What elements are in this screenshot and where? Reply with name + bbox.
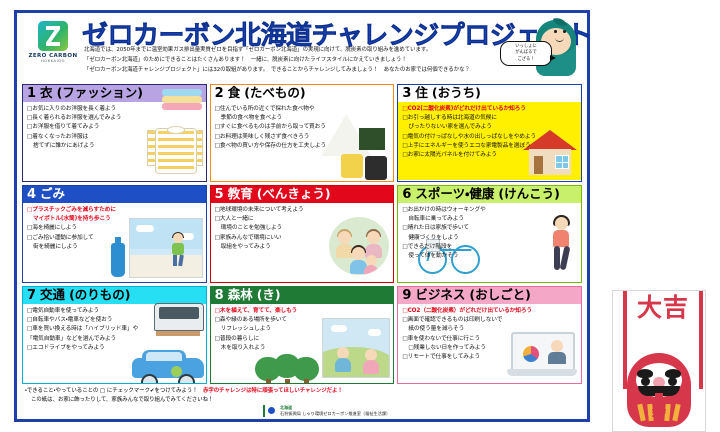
card-header: 1 衣 (ファッション) xyxy=(23,85,206,102)
checklist-item[interactable]: □着なくなったお洋服は xyxy=(27,133,203,142)
poster-footer: ・できること・やっていることの □ にチェックマーク✔をつけてみよう！ 赤字のチ… xyxy=(22,387,582,405)
checklist-item[interactable]: □プラスチックごみを減らすために xyxy=(27,206,203,215)
card-body: □CO2（二酸化炭素）がどれだけ出ているか知ろう □画面で確認できるものは印刷し… xyxy=(398,304,581,382)
card-title: 森林 xyxy=(228,289,253,302)
screenshot-root: ZERO CARBON HOKKAIDO ゼロカーボン北海道チャレンジプロジェク… xyxy=(0,0,720,432)
checklist-item[interactable]: □すぐに食べるものは手前から取って買おう xyxy=(215,123,391,132)
card-subtitle: (ファッション) xyxy=(57,87,143,100)
card-header: 8 森林 (き) xyxy=(211,287,394,304)
checklist-item[interactable]: □お家に太陽光パネルを付けてみよう xyxy=(402,151,578,160)
card-body: □地球環境の未来について考えよう □大人と一緒に 環境のことを勉強しよう □家族… xyxy=(211,203,394,281)
card-transport[interactable]: 7 交通 (のりもの) □電気自動車を使ってみよう □自転車やバス・電車などを使… xyxy=(22,286,207,384)
daruma-eye-right xyxy=(668,377,677,386)
checklist-item[interactable]: □住んでいる所の近くで採れた食べ物や xyxy=(215,105,391,114)
omikuji-label: 大吉 xyxy=(627,295,699,321)
checklist-item[interactable]: □晴れた日は家族で歩いて xyxy=(402,224,578,233)
checklist-item[interactable]: マイボトル(水筒)を持ち歩こう xyxy=(27,215,203,224)
checklist-item[interactable]: 健康づくりをしよう xyxy=(402,234,578,243)
checklist-item[interactable]: □画面で確認できるものは印刷しないで xyxy=(402,316,578,325)
checklist-item[interactable]: □車を買い換える時は「ハイブリッド車」や xyxy=(27,325,203,334)
checklist-item[interactable]: □CO2(二酸化炭素)がどれだけ出ているか知ろう xyxy=(402,105,578,114)
checklist-item[interactable]: □木を植えて、育てて、楽しもう xyxy=(215,307,391,316)
checklist-item[interactable]: 木を取り入れよう xyxy=(215,344,391,353)
card-subtitle: (べんきょう) xyxy=(257,188,331,201)
checklist-item[interactable]: □お出かけの時はウォーキングや xyxy=(402,206,578,215)
card-subtitle: (のりもの) xyxy=(69,289,130,302)
daruma-mouth xyxy=(655,393,663,400)
card-number: 5 xyxy=(215,188,224,201)
checklist-item[interactable]: □リモートで仕事をしてみよう xyxy=(402,353,578,362)
mascot-character: いっしょに がんばるで ござる！ xyxy=(502,19,578,81)
card-subtitle: (き) xyxy=(257,289,281,302)
checklist-item[interactable]: □エコドライブをやってみよう xyxy=(27,344,203,353)
checklist-item[interactable]: リフレッシュしよう xyxy=(215,325,391,334)
card-number: 9 xyxy=(402,289,411,302)
zero-carbon-logo: ZERO CARBON HOKKAIDO xyxy=(24,21,82,63)
card-title: 交通 xyxy=(40,289,65,302)
electric-car-icon xyxy=(132,350,204,384)
card-body: □住んでいる所の近くで採れた食べ物や 季節の食べ物を食べよう □すぐに食べるもの… xyxy=(211,102,394,180)
card-body: □お出かけの時はウォーキングや 自転車に乗ってみよう □晴れた日は家族で歩いて … xyxy=(398,203,581,281)
card-education[interactable]: 5 教育 (べんきょう) xyxy=(210,185,395,283)
checklist-item[interactable]: □家族みんなで環境にいい xyxy=(215,234,391,243)
checklist-item[interactable]: □電気の付けっぱなしや水の出しっぱなしをやめよう xyxy=(402,133,578,142)
card-body: □お気に入りのお洋服を長く着よう □長く着られるお洋服を選んでみよう □お洋服を… xyxy=(23,102,206,180)
checklist-item[interactable]: □地球環境の未来について考えよう xyxy=(215,206,391,215)
card-body: □木を植えて、育てて、楽しもう □森や緑のある場所を歩いて リフレッシュしよう … xyxy=(211,304,394,382)
checklist-item[interactable]: □上手にエネルギーを使うエコな家電製品を選ぼう xyxy=(402,142,578,151)
checklist-item[interactable]: □普段の暮らしに xyxy=(215,335,391,344)
checklist-item[interactable]: □自転車やバス・電車などを使おう xyxy=(27,316,203,325)
card-header: 3 住 (おうち) xyxy=(398,85,581,102)
daruma-eye-left xyxy=(641,377,650,386)
card-header: 7 交通 (のりもの) xyxy=(23,287,206,304)
checklist-item[interactable]: □大人と一緒に xyxy=(215,215,391,224)
checklist-item[interactable]: 環境のことを勉強しよう xyxy=(215,224,391,233)
card-body: □電気自動車を使ってみよう □自転車やバス・電車などを使おう □車を買い換える時… xyxy=(23,304,206,382)
eco-bag-yellow-icon xyxy=(341,154,363,178)
footer-note-black: ・できること・やっていることの □ にチェックマーク✔をつけてみよう！ xyxy=(25,388,203,394)
daruma-kanji-label: 寿 xyxy=(627,400,691,421)
checklist-item[interactable]: □食べ物の買い方や保存の仕方を工夫しよう xyxy=(215,142,391,151)
hokkaido-seal-icon xyxy=(263,405,277,417)
card-business[interactable]: 9 ビジネス (おしごと) □CO2（二酸化炭素）がどれだけ出ているか知ろう □… xyxy=(397,286,582,384)
card-subtitle: (けんこう) xyxy=(498,188,559,201)
footer-note-line-2: この紙は、お家に飾ったりして、家族みんなで取り組んでみてくださいね！ xyxy=(25,396,582,405)
challenge-card-grid: 1 衣 (ファッション) □お気に入りのお洋服を長く着よう □長く着られるお洋服… xyxy=(22,84,582,384)
card-sports-health[interactable]: 6 スポーツ・健康 (けんこう) □お出かけの時はウォーキングや xyxy=(397,185,582,283)
card-number: 3 xyxy=(402,87,411,100)
card-header: 4 ごみ xyxy=(23,186,206,203)
card-garbage[interactable]: 4 ごみ □プラスチックごみを減らすために xyxy=(22,185,207,283)
intro-paragraph: 北海道では、2050年までに温室効果ガス排出量実質ゼロを目指す「ゼロカーボン北海… xyxy=(84,45,486,75)
daruma-fortune-panel: 大吉 寿 xyxy=(612,290,706,432)
card-title: 食 xyxy=(228,87,241,100)
card-food[interactable]: 2 食 (たべもの) □住んでいる所の近くで採れた食べ物や 季節の食べ物を食べよ… xyxy=(210,84,395,182)
organization-credit: 北海道 石狩振興局 しゃり環境ゼロカーボン推進室（福祉生活課） xyxy=(263,405,390,417)
checklist-item[interactable]: 自転車に乗ってみよう xyxy=(402,215,578,224)
card-fashion[interactable]: 1 衣 (ファッション) □お気に入りのお洋服を長く着よう □長く着られるお洋服… xyxy=(22,84,207,182)
poster-sheet: ZERO CARBON HOKKAIDO ゼロカーボン北海道チャレンジプロジェク… xyxy=(14,10,590,422)
card-title: スポーツ・健康 xyxy=(415,188,494,201)
daruma-doll-icon: 寿 xyxy=(627,353,691,427)
card-title: 教育 xyxy=(228,188,253,201)
intro-line-3: 「ゼロカーボン北海道チャレンジプロジェクト」には32の取組があります。 できるこ… xyxy=(84,65,486,75)
intro-line-2: 「ゼロカーボン北海道」のためにできることはたくさんあります！ 一緒に、脱炭素に向… xyxy=(84,55,486,65)
eco-bag-black-icon xyxy=(365,156,387,180)
logo-sub: HOKKAIDO xyxy=(24,59,82,63)
card-title: 衣 xyxy=(40,87,53,100)
bubble-line-3: ござる！ xyxy=(504,57,548,63)
footer-note-red: 赤字のチャレンジは特に頑張ってほしいチャレンジだよ！ xyxy=(203,388,343,394)
checklist-item[interactable]: 「電気自動車」などを選んでみよう xyxy=(27,335,203,344)
card-housing[interactable]: 3 住 (おうち) □CO2(二酸化炭素)がどれだけ出ているか知ろう □お引っ越… xyxy=(397,84,582,182)
checklist-item[interactable]: □電気自動車を使ってみよう xyxy=(27,307,203,316)
checklist-item[interactable]: 使って体を動かそう xyxy=(402,252,578,261)
card-number: 6 xyxy=(402,188,411,201)
checklist-item[interactable]: □海を綺麗にしよう xyxy=(27,224,203,233)
checklist-item[interactable]: □お気に入りのお洋服を長く着よう xyxy=(27,105,203,114)
checklist-item[interactable]: 紙の使う量を減らそう xyxy=(402,325,578,334)
speech-bubble: いっしょに がんばるで ござる！ xyxy=(500,41,552,66)
card-header: 2 食 (たべもの) xyxy=(211,85,394,102)
checklist-item[interactable]: □お引っ越しする時は北海道の気候に xyxy=(402,114,578,123)
checklist-item[interactable]: 捨てずに誰かにあげよう xyxy=(27,142,203,151)
org-department: 石狩振興局 しゃり環境ゼロカーボン推進室（福祉生活課） xyxy=(280,411,390,416)
checklist-item[interactable]: ぴったりないい家を選んでみよう xyxy=(402,123,578,132)
card-subtitle: (おうち) xyxy=(432,87,481,100)
checklist-item[interactable]: □森や緑のある場所を歩いて xyxy=(215,316,391,325)
checklist-item[interactable]: □お料理は美味しく残さず食べきろう xyxy=(215,133,391,142)
card-forest[interactable]: 8 森林 (き) xyxy=(210,286,395,384)
checklist-item[interactable]: 街を綺麗にしよう xyxy=(27,243,203,252)
checklist-item[interactable]: □車を使わないで仕事に行こう xyxy=(402,335,578,344)
poster-header: ZERO CARBON HOKKAIDO ゼロカーボン北海道チャレンジプロジェク… xyxy=(22,17,582,83)
card-header: 5 教育 (べんきょう) xyxy=(211,186,394,203)
card-number: 4 xyxy=(27,188,36,201)
card-title: ビジネス xyxy=(415,289,465,302)
card-title: ごみ xyxy=(40,188,65,201)
card-number: 1 xyxy=(27,87,36,100)
checklist-item[interactable]: □できるだけ階段を xyxy=(402,243,578,252)
checklist-item[interactable]: 取組をやってみよう xyxy=(215,243,391,252)
card-header: 6 スポーツ・健康 (けんこう) xyxy=(398,186,581,203)
trees-icon xyxy=(255,348,331,384)
checklist-item[interactable]: □CO2（二酸化炭素）がどれだけ出ているか知ろう xyxy=(402,307,578,316)
checklist-item[interactable]: □ごみ拾い運動に参加して xyxy=(27,234,203,243)
card-number: 8 xyxy=(215,289,224,302)
checklist-item[interactable]: 季節の食べ物を食べよう xyxy=(215,114,391,123)
card-subtitle: (おしごと) xyxy=(469,289,530,302)
card-subtitle: (たべもの) xyxy=(244,87,305,100)
card-body: □CO2(二酸化炭素)がどれだけ出ているか知ろう □お引っ越しする時は北海道の気… xyxy=(398,102,581,180)
checklist-item[interactable]: □長く着られるお洋服を選んでみよう xyxy=(27,114,203,123)
zero-carbon-mark-icon xyxy=(38,21,68,51)
checklist-item[interactable]: □お洋服を借りて着てみよう xyxy=(27,123,203,132)
card-number: 2 xyxy=(215,87,224,100)
card-number: 7 xyxy=(27,289,36,302)
footer-note-line-1: ・できること・やっていることの □ にチェックマーク✔をつけてみよう！ 赤字のチ… xyxy=(25,387,582,396)
card-title: 住 xyxy=(415,87,428,100)
checklist-item[interactable]: □残業しない日を作ってみよう xyxy=(402,344,578,353)
card-body: □プラスチックごみを減らすために マイボトル(水筒)を持ち歩こう □海を綺麗にし… xyxy=(23,203,206,281)
intro-line-1: 北海道では、2050年までに温室効果ガス排出量実質ゼロを目指す「ゼロカーボン北海… xyxy=(84,45,486,55)
card-header: 9 ビジネス (おしごと) xyxy=(398,287,581,304)
